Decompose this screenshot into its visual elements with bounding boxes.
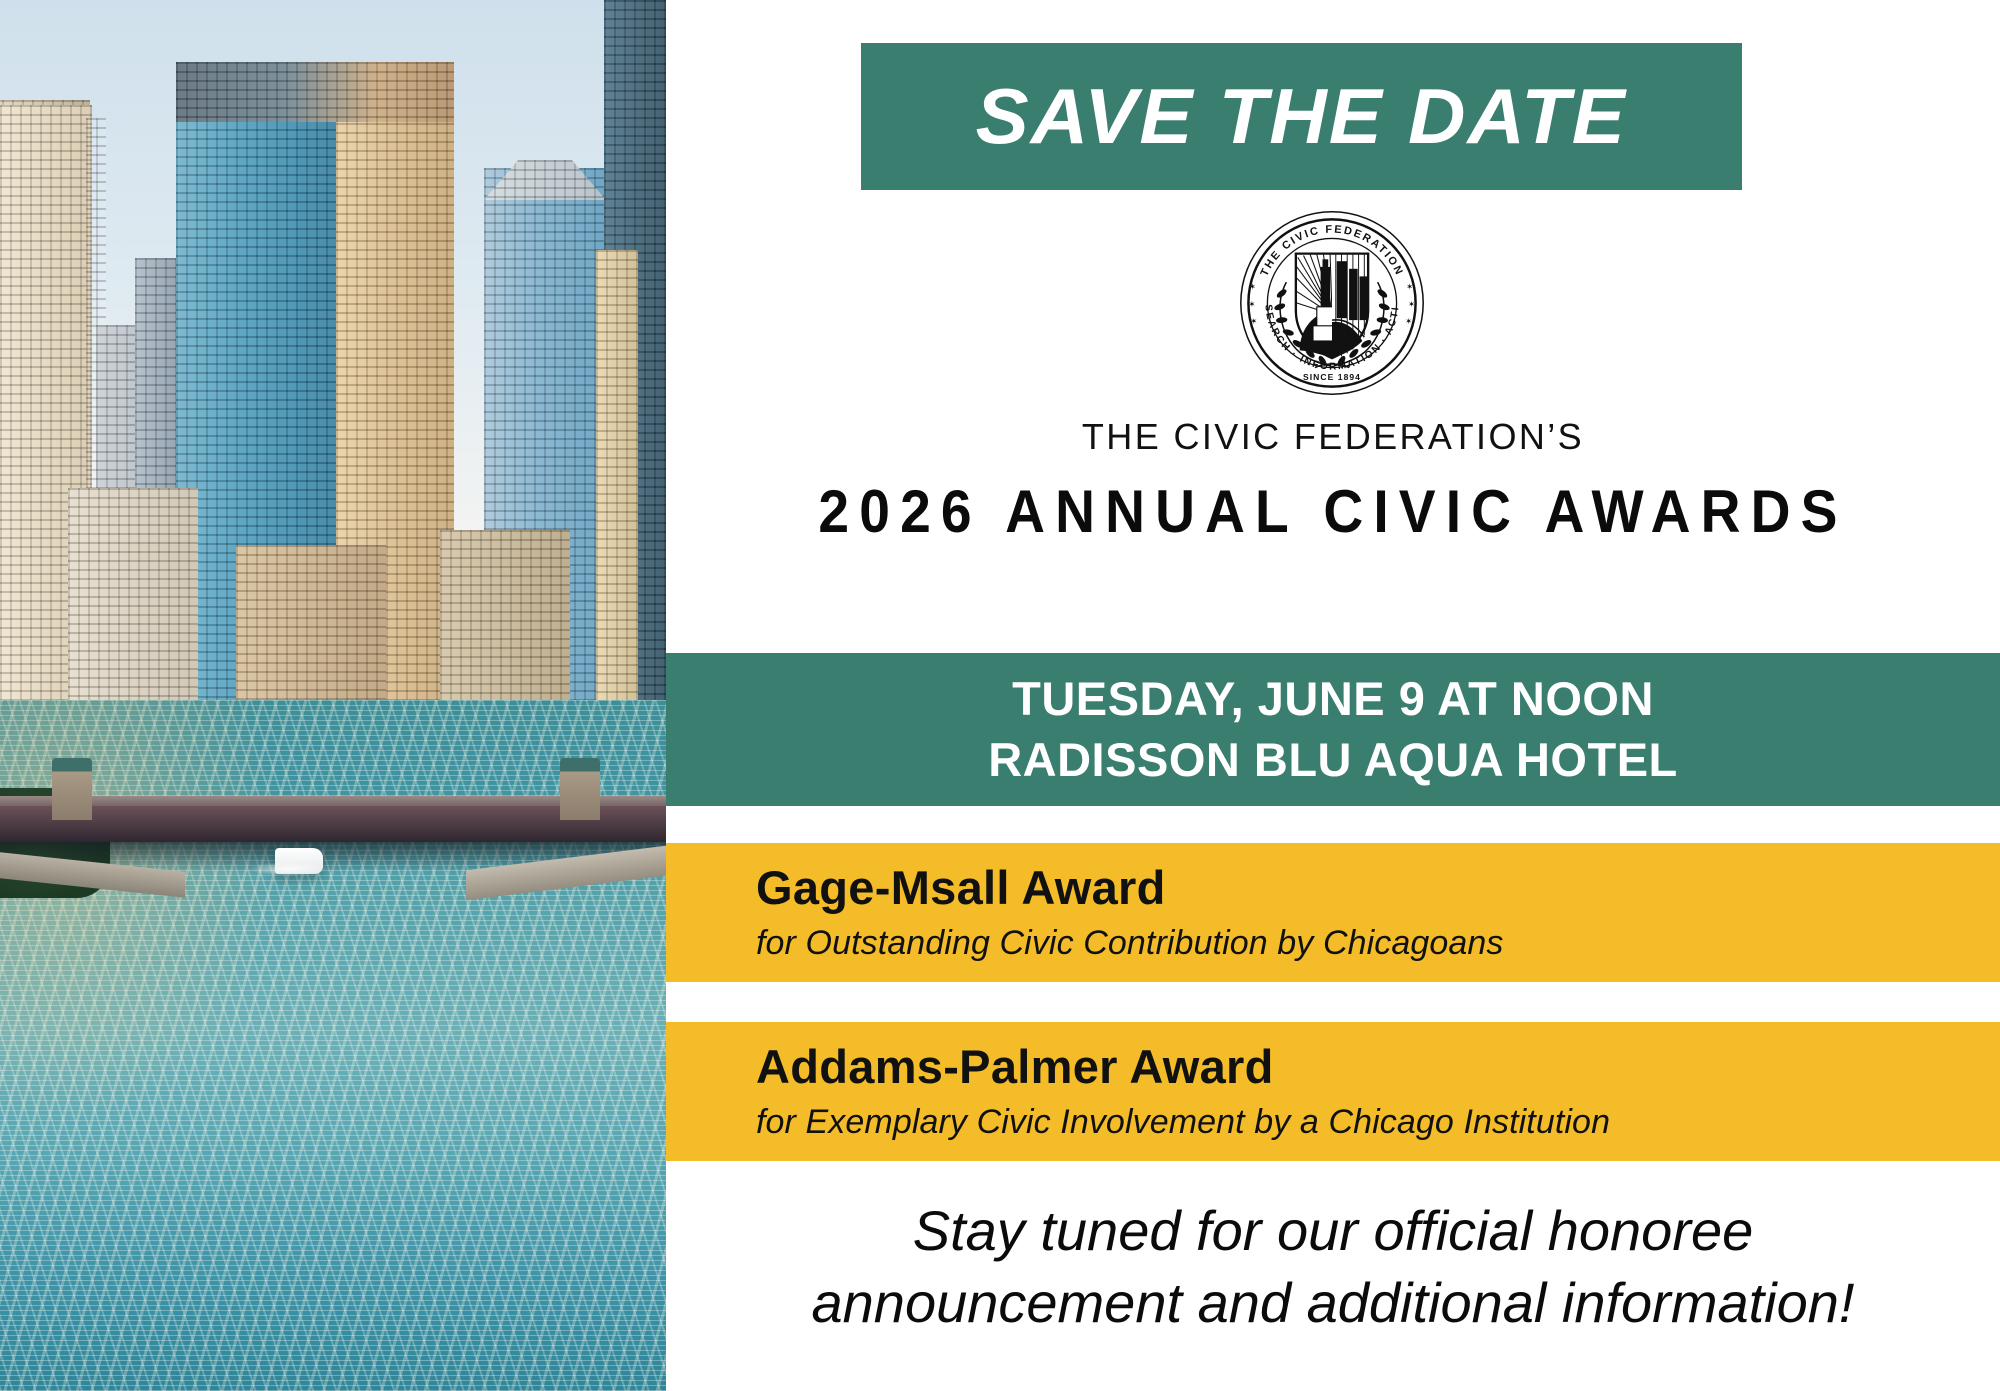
bridge-tower-right — [560, 758, 600, 820]
award-description: for Exemplary Civic Involvement by a Chi… — [756, 1100, 2000, 1144]
award-name: Gage-Msall Award — [756, 860, 2000, 915]
svg-text:✶: ✶ — [1248, 299, 1255, 309]
save-the-date-poster: SAVE THE DATE THE CIVIC FEDERATION RESEA… — [0, 0, 2000, 1391]
chicago-skyline-photo — [0, 0, 666, 1391]
award-name: Addams-Palmer Award — [756, 1039, 2000, 1094]
award-band-gage-msall: Gage-Msall Award for Outstanding Civic C… — [666, 843, 2000, 982]
bridge-tower-left — [52, 758, 92, 820]
building-tower-crown — [176, 62, 454, 122]
motorboat — [275, 848, 323, 874]
footer-line-2: announcement and additional information! — [666, 1267, 2000, 1339]
svg-text:✶: ✶ — [1249, 282, 1256, 292]
organization-line: THE CIVIC FEDERATION’S — [666, 416, 2000, 458]
footer-tagline: Stay tuned for our official honoree anno… — [666, 1195, 2000, 1338]
award-band-addams-palmer: Addams-Palmer Award for Exemplary Civic … — [666, 1022, 2000, 1161]
poster-content: SAVE THE DATE THE CIVIC FEDERATION RESEA… — [666, 0, 2000, 1391]
svg-text:✶: ✶ — [1405, 316, 1412, 326]
event-date: TUESDAY, JUNE 9 AT NOON — [1012, 669, 1654, 729]
svg-text:✶: ✶ — [1406, 282, 1413, 292]
save-the-date-banner: SAVE THE DATE — [861, 43, 1742, 190]
page-title: 2026 ANNUAL CIVIC AWARDS — [719, 477, 1946, 546]
svg-text:SINCE 1894: SINCE 1894 — [1303, 372, 1361, 382]
civic-federation-seal: THE CIVIC FEDERATION RESEARCH · INFORMAT… — [1237, 208, 1427, 398]
footer-line-1: Stay tuned for our official honoree — [913, 1199, 1754, 1262]
event-venue: RADISSON BLU AQUA HOTEL — [988, 730, 1678, 790]
event-details-banner: TUESDAY, JUNE 9 AT NOON RADISSON BLU AQU… — [666, 653, 2000, 806]
award-description: for Outstanding Civic Contribution by Ch… — [756, 921, 2000, 965]
svg-text:✶: ✶ — [1408, 299, 1415, 309]
save-the-date-text: SAVE THE DATE — [976, 71, 1627, 162]
svg-text:✶: ✶ — [1250, 316, 1257, 326]
